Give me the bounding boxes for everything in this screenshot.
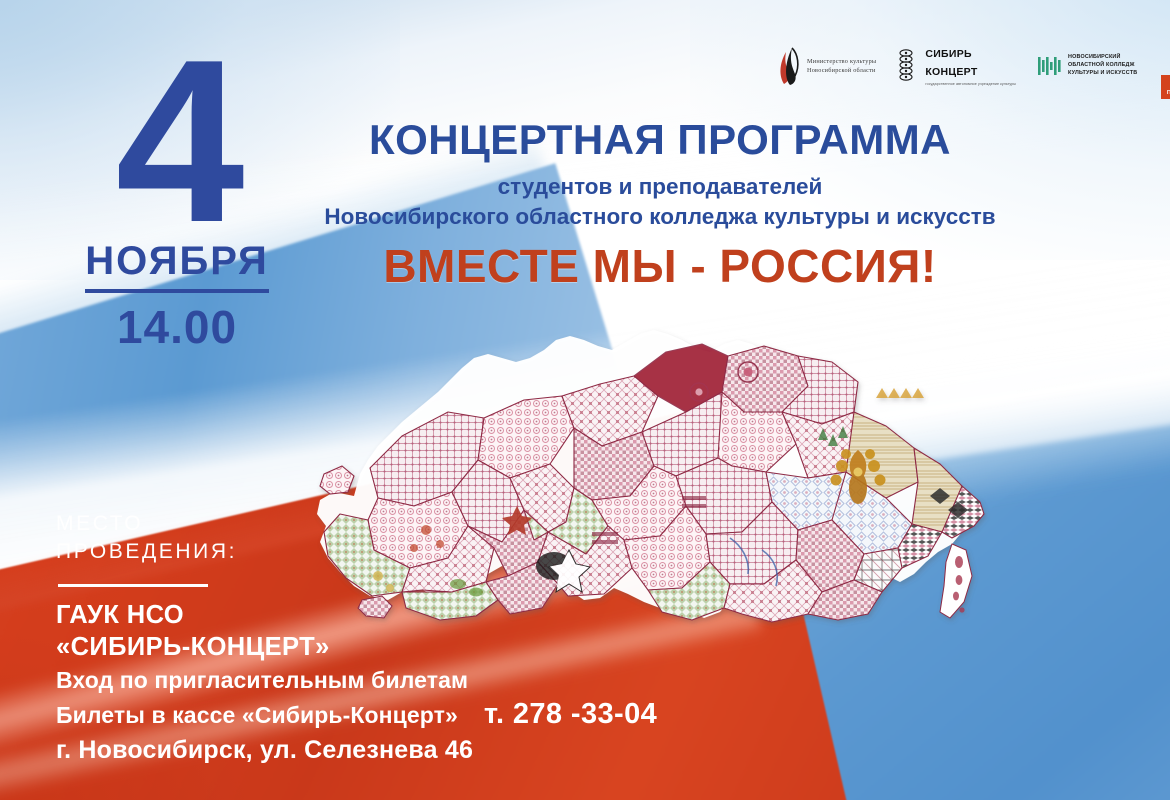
ministry-line2: Новосибирской области bbox=[807, 67, 876, 74]
nokki-wordmark: НОВОСИБИРСКИЙ ОБЛАСТНОЙ КОЛЛЕДЖ КУЛЬТУРЫ… bbox=[1068, 54, 1137, 77]
sibir-koncert-wordmark: СИБИРЬ КОНЦЕРТ государственное автономно… bbox=[925, 44, 1016, 87]
venue-label: МЕСТО ПРОВЕДЕНИЯ: bbox=[56, 510, 696, 567]
logo-sibir-koncert: СИБИРЬ КОНЦЕРТ государственное автономно… bbox=[898, 44, 1016, 87]
sponsor-logos-row: Министерство культуры Новосибирской обла… bbox=[775, 33, 1170, 99]
venue-phone[interactable]: т. 278 -33-04 bbox=[484, 698, 657, 731]
sibir-subtitle: государственное автономное учреждение ку… bbox=[925, 82, 1016, 87]
venue-label-line1: МЕСТО bbox=[56, 512, 143, 535]
logo-nokki: НОВОСИБИРСКИЙ ОБЛАСТНОЙ КОЛЛЕДЖ КУЛЬТУРЫ… bbox=[1038, 54, 1137, 77]
event-month-label: НОЯБРЯ bbox=[85, 239, 268, 293]
venue-block: МЕСТО ПРОВЕДЕНИЯ: ГАУК НСО «СИБИРЬ-КОНЦЕ… bbox=[56, 510, 696, 767]
program-subtitle-1: студентов и преподавателей bbox=[300, 173, 1020, 200]
sibir-koncert-mark-icon bbox=[898, 48, 920, 84]
program-subtitle-2: Новосибирского областного колледжа культ… bbox=[300, 203, 1020, 230]
event-date-block: 4 НОЯБРЯ 14.00 bbox=[62, 52, 292, 354]
sibir-line2: КОНЦЕРТ bbox=[925, 66, 977, 78]
event-time: 14.00 bbox=[62, 300, 292, 354]
poster-canvas: 4 НОЯБРЯ 14.00 Министерство культуры Нов… bbox=[0, 0, 1170, 800]
logo-ministry-of-culture: Министерство культуры Новосибирской обла… bbox=[775, 46, 876, 86]
venue-org-line1: ГАУК НСО bbox=[56, 599, 696, 632]
ministry-line1: Министерство культуры bbox=[807, 58, 876, 65]
nokki-bars-icon bbox=[1038, 56, 1063, 76]
program-title: КОНЦЕРТНАЯ ПРОГРАММА bbox=[300, 118, 1020, 162]
pobeda-badge: 80 ПОБЕДА! bbox=[1161, 75, 1170, 99]
venue-label-line2: ПРОВЕДЕНИЯ: bbox=[56, 540, 237, 563]
headline-block: КОНЦЕРТНАЯ ПРОГРАММА студентов и препода… bbox=[300, 118, 1020, 290]
sibir-line1: СИБИРЬ bbox=[925, 48, 972, 60]
venue-divider bbox=[58, 584, 208, 587]
venue-org-line2: «СИБИРЬ-КОНЦЕРТ» bbox=[56, 631, 696, 664]
ministry-flame-icon bbox=[775, 46, 801, 86]
venue-entry-note: Вход по пригласительным билетам bbox=[56, 666, 696, 696]
venue-tickets-row: Билеты в кассе «Сибирь-Концерт» т. 278 -… bbox=[56, 698, 696, 731]
event-day-number: 4 bbox=[62, 52, 292, 233]
venue-tickets-note: Билеты в кассе «Сибирь-Концерт» bbox=[56, 701, 458, 731]
nokki-line1: НОВОСИБИРСКИЙ bbox=[1068, 54, 1121, 60]
program-slogan: ВМЕСТЕ МЫ - РОССИЯ! bbox=[300, 242, 1020, 290]
logo-pobeda-80: 80 ПОБЕДА! bbox=[1159, 33, 1170, 99]
nokki-line3: КУЛЬТУРЫ И ИСКУССТВ bbox=[1068, 70, 1137, 76]
nokki-line2: ОБЛАСТНОЙ КОЛЛЕДЖ bbox=[1068, 62, 1135, 68]
ministry-logo-text: Министерство культуры Новосибирской обла… bbox=[807, 57, 876, 76]
venue-address: г. Новосибирск, ул. Селезнева 46 bbox=[56, 734, 696, 767]
